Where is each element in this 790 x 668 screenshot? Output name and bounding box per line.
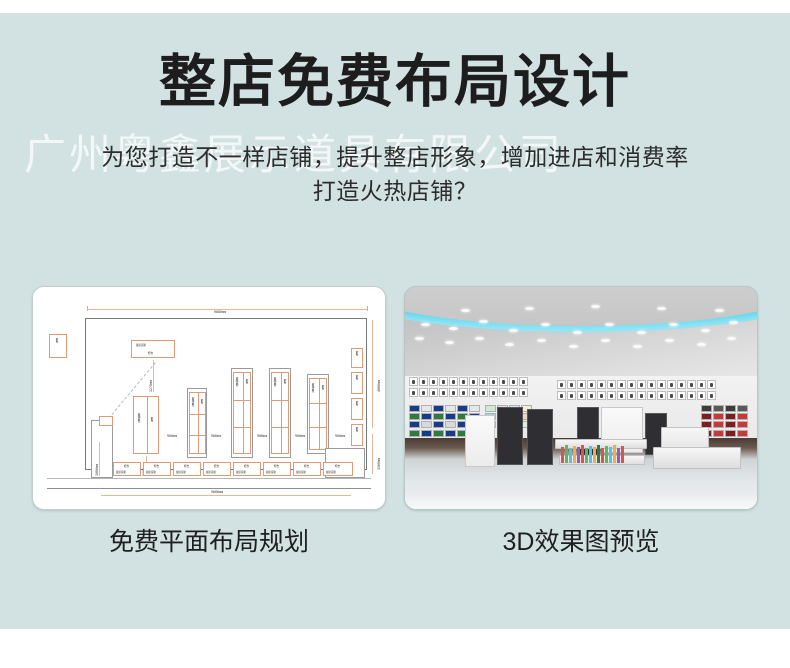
- product-box: [677, 391, 686, 400]
- product-box: [657, 380, 666, 389]
- downlight: [509, 329, 518, 332]
- product-box: [459, 388, 468, 397]
- product-box: [677, 380, 686, 389]
- cad-drawing: 9000mm 9000mm 4000mm 1500mm 柜台: [33, 287, 385, 509]
- peg: [713, 430, 724, 437]
- dim-label-aisle-5: 900mm: [335, 434, 345, 438]
- peg: [713, 421, 724, 428]
- peg-row: [409, 405, 480, 412]
- display-rack-2: [527, 409, 553, 465]
- downlight: [701, 329, 710, 332]
- gondola-divider: [198, 393, 199, 453]
- island-label: 柜台: [150, 417, 153, 422]
- downlight: [415, 337, 424, 340]
- downlight: [729, 321, 738, 324]
- book: [589, 446, 592, 463]
- peg: [737, 413, 748, 420]
- dim-label-left-lower: 1000mm: [95, 464, 99, 476]
- product-box: [469, 388, 478, 397]
- peg: [409, 430, 420, 437]
- book: [605, 446, 608, 463]
- book: [561, 447, 564, 463]
- display-rack-3: [465, 415, 495, 467]
- product-box: [479, 377, 488, 386]
- gondola-divider: [272, 400, 288, 401]
- product-box: [499, 377, 508, 386]
- product-box: [557, 391, 566, 400]
- book: [581, 445, 584, 463]
- product-box: [687, 380, 696, 389]
- product-box: [667, 380, 676, 389]
- product-box: [409, 377, 418, 386]
- bottom-unit-1: 柜台 展示货架: [113, 462, 141, 476]
- dim-line-bottom: [101, 495, 351, 496]
- gondola-label: 展示货架: [273, 377, 276, 386]
- peg: [421, 413, 432, 420]
- bottom-unit-sub-label: 展示货架: [116, 471, 126, 474]
- wall-box-row: [409, 388, 528, 397]
- wall-unit-r3: 柜台: [351, 398, 363, 420]
- bottom-unit-label: 柜台: [244, 465, 249, 468]
- downlight: [449, 327, 458, 330]
- product-box: [697, 380, 706, 389]
- caption-floor-plan: 免费平面布局规划: [32, 525, 386, 559]
- book: [593, 447, 596, 463]
- wall-box-row: [557, 391, 716, 400]
- promo-page: 广州粤鑫展示道具有限公司 整店免费布局设计 为您打造不一样店铺，提升整店形象，增…: [0, 0, 790, 668]
- downlight: [505, 343, 514, 346]
- peg: [445, 421, 456, 428]
- bottom-unit-2: 柜台 展示货架: [143, 462, 171, 476]
- downlight: [573, 331, 582, 334]
- bottom-unit-label: 柜台: [274, 465, 279, 468]
- wall-unit-label: 柜台: [355, 375, 358, 380]
- product-box: [567, 391, 576, 400]
- downlight: [727, 337, 736, 340]
- bottom-unit-label: 柜台: [214, 465, 219, 468]
- product-box: [509, 388, 518, 397]
- dim-label-aisle-3: 900mm: [257, 434, 267, 438]
- product-box: [597, 380, 606, 389]
- product-box: [519, 377, 528, 386]
- peg: [445, 405, 456, 412]
- book: [585, 448, 588, 463]
- gondola-label: 展示货架: [191, 397, 194, 406]
- peg: [433, 430, 444, 437]
- cashier-sub-label: 柜台: [148, 352, 153, 355]
- downlight: [537, 339, 546, 342]
- peg: [469, 405, 480, 412]
- book: [617, 448, 620, 463]
- dim-label-aisle-1: 900mm: [167, 434, 177, 438]
- peg: [433, 421, 444, 428]
- display-rack-1: [497, 407, 523, 465]
- product-box: [587, 391, 596, 400]
- product-box: [667, 391, 676, 400]
- floor-plan-panel[interactable]: 9000mm 9000mm 4000mm 1500mm 柜台: [32, 286, 386, 510]
- downlight: [475, 337, 484, 340]
- peg: [409, 421, 420, 428]
- bottom-unit-sub-label: 展示货架: [326, 471, 336, 474]
- wall-box-row: [557, 380, 716, 389]
- gondola-label: 柜台: [283, 379, 286, 384]
- bottom-unit-sub-label: 展示货架: [146, 471, 156, 474]
- product-box: [449, 388, 458, 397]
- peg-row: [701, 405, 748, 412]
- gondola-2: 展示货架 柜台: [189, 392, 206, 454]
- gondola-divider: [281, 373, 282, 453]
- book: [577, 447, 580, 463]
- product-box: [637, 391, 646, 400]
- dim-label-center-upper: 1270mm: [149, 380, 153, 392]
- bottom-unit-7: 柜台 展示货架: [293, 462, 321, 476]
- peg: [701, 413, 712, 420]
- gondola-5: 展示货架 柜台: [309, 378, 327, 450]
- island-label: 展示货架: [137, 413, 140, 422]
- bottom-unit-sub-label: 展示货架: [176, 471, 186, 474]
- product-box: [637, 380, 646, 389]
- peg: [409, 413, 420, 420]
- panel-row: 9000mm 9000mm 4000mm 1500mm 柜台: [0, 286, 790, 516]
- product-box: [607, 380, 616, 389]
- island-shelf-1: 展示货架 柜台: [133, 396, 159, 454]
- peg-row: [701, 413, 748, 420]
- dim-tick: [87, 306, 88, 311]
- product-box: [567, 380, 576, 389]
- wall-unit-label: 柜台: [355, 401, 358, 406]
- dim-label-bottom: 9000mm: [211, 490, 223, 494]
- small-fixture: [99, 416, 113, 426]
- bottom-unit-8: 柜台 展示货架: [323, 462, 353, 476]
- legend-box: 柜台: [49, 334, 67, 358]
- wall-unit-label: 柜台: [355, 427, 358, 432]
- wall-unit-label: 柜台: [355, 351, 358, 356]
- wall-bottom-inner: [47, 478, 371, 479]
- product-box: [449, 377, 458, 386]
- bottom-unit-sub-label: 展示货架: [266, 471, 276, 474]
- subtitle-line-2: 打造火热店铺？: [0, 174, 790, 208]
- dim-tick: [367, 306, 368, 311]
- peg: [713, 405, 724, 412]
- bottom-unit-sub-label: 展示货架: [236, 471, 246, 474]
- bottom-unit-label: 柜台: [184, 465, 189, 468]
- product-box: [439, 388, 448, 397]
- book: [609, 447, 612, 463]
- book: [573, 446, 576, 463]
- caption-row: 免费平面布局规划 3D效果图预览: [0, 525, 790, 567]
- bottom-unit-label: 柜台: [124, 465, 129, 468]
- product-box: [577, 380, 586, 389]
- peg: [433, 405, 444, 412]
- bottom-unit-6: 柜台 展示货架: [263, 462, 291, 476]
- gondola-label: 柜台: [200, 399, 203, 404]
- wall-box-row: [409, 377, 528, 386]
- downlight: [665, 339, 674, 342]
- gondola-divider: [190, 435, 205, 436]
- bottom-unit-3: 柜台 展示货架: [173, 462, 201, 476]
- gondola-divider: [190, 414, 205, 415]
- floor-reflection: [405, 493, 757, 509]
- gondola-3: 展示货架 柜台: [233, 372, 251, 454]
- bottom-unit-sub-label: 展示货架: [206, 471, 216, 474]
- book: [621, 446, 624, 463]
- product-box: [557, 380, 566, 389]
- gondola-4: 展示货架 柜台: [271, 372, 289, 454]
- peg: [737, 405, 748, 412]
- product-box: [697, 391, 706, 400]
- product-box: [409, 388, 418, 397]
- bottom-unit-label: 柜台: [304, 465, 309, 468]
- product-box: [627, 391, 636, 400]
- wall-unit-r4: 柜台: [351, 424, 363, 446]
- render-3d-panel[interactable]: 广州粤鑫展示道具有限公司: [404, 286, 758, 510]
- peg: [737, 430, 748, 437]
- bottom-unit-label: 柜台: [154, 465, 159, 468]
- product-box: [489, 377, 498, 386]
- dim-line-top: [87, 309, 367, 310]
- gondola-label: 柜台: [245, 379, 248, 384]
- product-box: [429, 388, 438, 397]
- product-box: [459, 377, 468, 386]
- peg: [725, 421, 736, 428]
- dim-line-center-upper: [153, 360, 154, 392]
- page-subtitle: 为您打造不一样店铺，提升整店形象，增加进店和消费率 打造火热店铺？: [0, 140, 790, 208]
- peg: [421, 430, 432, 437]
- product-box: [707, 380, 716, 389]
- peg: [445, 413, 456, 420]
- product-box: [617, 380, 626, 389]
- checkout-counter: [653, 447, 741, 469]
- downlight: [637, 331, 646, 334]
- downlight: [633, 345, 642, 348]
- downlight: [601, 339, 610, 342]
- cashier-counter: 展示货架 柜台: [131, 340, 175, 358]
- product-box: [657, 391, 666, 400]
- gondola-label: 展示货架: [311, 383, 314, 392]
- gondola-divider: [310, 427, 326, 428]
- peg: [725, 413, 736, 420]
- gondola-divider: [234, 400, 250, 401]
- product-box: [469, 377, 478, 386]
- product-box: [509, 377, 518, 386]
- product-box: [439, 377, 448, 386]
- wall-unit-r1: 柜台: [351, 348, 363, 368]
- product-box: [479, 388, 488, 397]
- peg: [737, 421, 748, 428]
- product-box: [419, 388, 428, 397]
- gondola-label: 展示货架: [235, 377, 238, 386]
- book: [565, 445, 568, 463]
- subtitle-line-1: 为您打造不一样店铺，提升整店形象，增加进店和消费率: [0, 140, 790, 174]
- wall-bottom: [47, 488, 371, 489]
- book: [569, 448, 572, 463]
- bottom-unit-4: 柜台 展示货架: [203, 462, 231, 476]
- product-box: [607, 391, 616, 400]
- page-title: 整店免费布局设计: [0, 48, 790, 116]
- downlight: [421, 323, 430, 326]
- dim-label-aisle-4: 900mm: [295, 434, 305, 438]
- peg: [713, 413, 724, 420]
- peg: [701, 405, 712, 412]
- peg: [421, 405, 432, 412]
- product-box: [707, 391, 716, 400]
- bottom-unit-sub-label: 展示货架: [296, 471, 306, 474]
- peg: [409, 405, 420, 412]
- product-box: [489, 388, 498, 397]
- product-box: [587, 380, 596, 389]
- downlight: [569, 345, 578, 348]
- book: [597, 445, 600, 463]
- peg: [457, 405, 468, 412]
- bottom-unit-label: 柜台: [335, 465, 340, 468]
- product-box: [429, 377, 438, 386]
- downlight: [697, 343, 706, 346]
- product-box: [647, 380, 656, 389]
- peg: [421, 421, 432, 428]
- peg: [485, 405, 496, 412]
- gondola-label: 柜台: [321, 385, 324, 390]
- island-divider: [147, 397, 148, 453]
- book-display: [561, 445, 624, 463]
- dim-label-right-lower: 1500mm: [377, 458, 381, 470]
- store-render-image: 广州粤鑫展示道具有限公司: [405, 287, 757, 509]
- peg: [433, 413, 444, 420]
- dim-line-right-upper: [372, 320, 373, 428]
- caption-render-3d: 3D效果图预览: [404, 525, 758, 559]
- peg: [445, 430, 456, 437]
- bottom-unit-5: 柜台 展示货架: [233, 462, 261, 476]
- gondola-divider: [234, 427, 250, 428]
- legend-label: 柜台: [55, 338, 58, 343]
- downlight: [445, 341, 454, 344]
- gondola-divider: [243, 373, 244, 453]
- product-box: [627, 380, 636, 389]
- ceiling: [405, 287, 757, 385]
- cashier-label: 展示货架: [136, 344, 146, 347]
- cad-canvas: 9000mm 9000mm 4000mm 1500mm 柜台: [39, 292, 379, 504]
- book: [613, 445, 616, 463]
- dim-line-right-lower: [372, 434, 373, 474]
- dim-line-left-lower: [99, 442, 100, 476]
- product-box: [687, 391, 696, 400]
- product-box: [647, 391, 656, 400]
- gondola-divider: [319, 379, 320, 449]
- dim-label-aisle-2: 900mm: [211, 434, 221, 438]
- product-box: [499, 388, 508, 397]
- peg: [725, 430, 736, 437]
- product-box: [519, 388, 528, 397]
- product-box: [577, 391, 586, 400]
- product-box: [419, 377, 428, 386]
- peg: [725, 405, 736, 412]
- wall-unit-r2: 柜台: [351, 372, 363, 394]
- product-box: [597, 391, 606, 400]
- dim-label-top: 9000mm: [214, 310, 226, 314]
- product-box: [617, 391, 626, 400]
- dim-label-right-upper: 4000mm: [377, 380, 381, 392]
- gondola-divider: [272, 427, 288, 428]
- gondola-divider: [310, 403, 326, 404]
- book: [601, 448, 604, 463]
